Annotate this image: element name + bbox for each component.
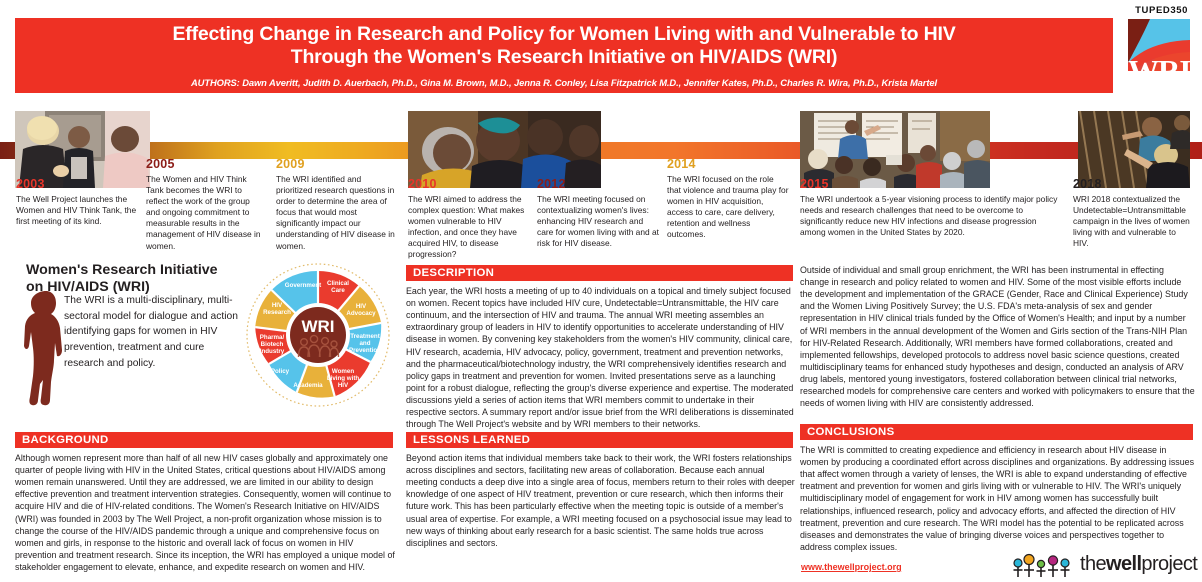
timeline-entry-2014: 2014 The WRI focused on the role that vi…: [667, 158, 789, 241]
wellproject-the: the: [1080, 553, 1106, 575]
wheel-label-wlhiv-2: Living with: [327, 375, 360, 382]
poster-code: TUPED350: [1135, 5, 1188, 16]
timeline-year: 2018: [1073, 178, 1191, 191]
timeline-text: The Women and HIV Think Tank becomes the…: [146, 174, 264, 252]
wheel-label-policy: Policy: [271, 368, 290, 375]
wri-model-heading-line1: Women's Research Initiative: [26, 262, 271, 279]
timeline-year: 2003: [16, 178, 146, 191]
timeline-entry-2009: 2009 The WRI identified and prioritized …: [276, 158, 396, 252]
outcomes-section-body: Outside of individual and small group en…: [800, 264, 1195, 409]
wheel-label-treatment-2: and: [359, 340, 370, 347]
wheel-label-government: Government: [285, 282, 321, 289]
timeline-text: The WRI aimed to address the complex que…: [408, 194, 534, 261]
timeline-entry-2003: 2003 The Well Project launches the Women…: [16, 178, 146, 227]
wri-logo-wordmark: WRI: [1128, 55, 1190, 86]
wheel-label-pharma-2: Biotech: [261, 341, 284, 348]
wheel-label-academia: Academia: [293, 382, 323, 389]
conclusions-section-body: The WRI is committed to creating expedie…: [800, 444, 1195, 553]
timeline-year: 2014: [667, 158, 789, 171]
timeline-year: 2010: [408, 178, 534, 191]
wheel-label-clinical-care: Clinical: [327, 280, 349, 287]
thewellproject-url-link[interactable]: www.thewellproject.org: [801, 562, 902, 572]
timeline-gradient-bar: [0, 142, 1202, 159]
wheel-label-hiv-research: HIV: [272, 302, 283, 309]
timeline-entry-2018: 2018 WRI 2018 contextualized the Undetec…: [1073, 178, 1191, 249]
wri-model-description: The WRI is a multi-disciplinary, multi-s…: [64, 293, 244, 371]
wheel-label-hiv-advocacy: HIV: [356, 303, 367, 310]
photo-women-discussing: [408, 111, 601, 188]
timeline-text: The WRI undertook a 5-year visioning pro…: [800, 194, 1062, 239]
wheel-label-hiv-research-2: Research: [263, 309, 291, 316]
wri-model-wheel-diagram: WRI Clinical Care HIV Advocacy Treatment…: [246, 260, 390, 410]
wri-logo: WRI: [1128, 19, 1190, 93]
background-section-header: BACKGROUND: [15, 432, 393, 448]
wheel-label-clinical-care-2: Care: [331, 287, 345, 294]
timeline-year: 2015: [800, 178, 1062, 191]
lessons-learned-section-header: LESSONS LEARNED: [406, 432, 793, 448]
background-section-body: Although women represent more than half …: [15, 452, 396, 573]
poster-title-line2: Through the Women's Research Initiative …: [291, 46, 838, 69]
timeline-year: 2005: [146, 158, 264, 171]
description-section-body: Each year, the WRI hosts a meeting of up…: [406, 285, 796, 430]
lessons-learned-section-body: Beyond action items that individual memb…: [406, 452, 796, 549]
timeline-text: WRI 2018 contextualized the Undetectable…: [1073, 194, 1191, 250]
timeline-entry-2010: 2010 The WRI aimed to address the comple…: [408, 178, 534, 261]
poster-title-line1: Effecting Change in Research and Policy …: [172, 23, 955, 46]
timeline-entry-2012: 2012 The WRI meeting focused on contextu…: [537, 178, 661, 249]
timeline-year: 2009: [276, 158, 396, 171]
wheel-label-treatment: Treatment: [350, 333, 380, 340]
thewellproject-logo: thewellproject: [1012, 551, 1194, 579]
wheel-label-pharma-3: Industry: [260, 348, 285, 355]
wheel-label-wlhiv-3: HIV: [338, 382, 349, 389]
wheel-center-label: WRI: [301, 317, 334, 336]
description-section-header: DESCRIPTION: [406, 265, 793, 281]
wheel-label-hiv-advocacy-2: Advocacy: [346, 310, 376, 317]
poster-authors: AUTHORS: Dawn Averitt, Judith D. Auerbac…: [191, 77, 937, 88]
wellproject-people-icon: [1012, 553, 1074, 579]
timeline-year: 2012: [537, 178, 661, 191]
wellproject-project: project: [1141, 553, 1197, 575]
timeline-text: The WRI focused on the role that violenc…: [667, 174, 789, 241]
poster-canvas: TUPED350 Effecting Change in Research an…: [0, 0, 1202, 582]
wheel-label-pharma: Pharma/: [260, 334, 285, 341]
timeline-photo-2010: [408, 111, 601, 188]
wellproject-well: well: [1106, 553, 1141, 575]
wheel-label-wlhiv: Women: [332, 368, 354, 375]
timeline-text: The WRI meeting focused on contextualizi…: [537, 194, 661, 250]
timeline-entry-2005: 2005 The Women and HIV Think Tank become…: [146, 158, 264, 252]
timeline-text: The Well Project launches the Women and …: [16, 194, 146, 228]
timeline-text: The WRI identified and prioritized resea…: [276, 174, 396, 252]
poster-header-band: Effecting Change in Research and Policy …: [15, 18, 1113, 93]
conclusions-section-header: CONCLUSIONS: [800, 424, 1193, 440]
wellproject-wordmark: thewellproject: [1080, 553, 1197, 575]
wheel-label-treatment-3: Prevention: [349, 347, 381, 354]
timeline-entry-2015: 2015 The WRI undertook a 5-year visionin…: [800, 178, 1062, 238]
